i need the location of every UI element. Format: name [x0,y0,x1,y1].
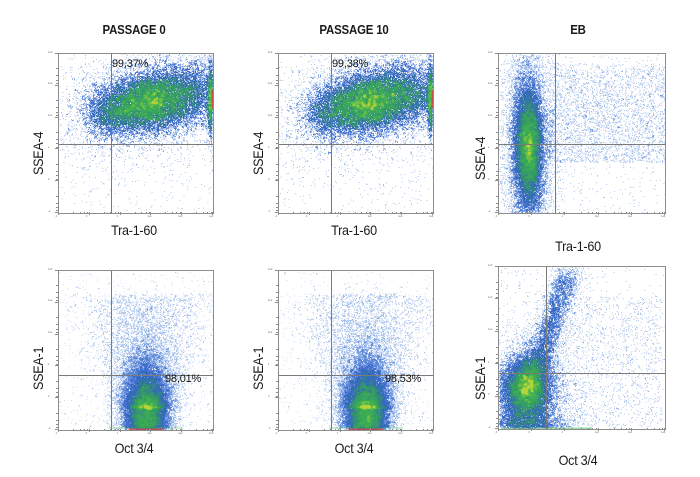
gate-line-vertical-p3[interactable] [555,54,556,213]
gate-percentage-p4: 98,01% [165,373,201,385]
gate-line-vertical-p5[interactable] [331,271,332,430]
y-axis-label-ssea4-p3: SSEA-4 [472,137,488,180]
plot-area-p3[interactable] [498,53,666,214]
x-axis-label-tra160-p2: Tra-1-60 [280,222,428,238]
plot-area-p2[interactable] [278,53,434,214]
gate-percentage-p1: 99,37% [112,58,148,70]
x-axis-label-oct34-p5: Oct 3/4 [280,440,428,456]
gate-percentage-p2: 99,38% [332,58,368,70]
x-axis-label-oct34-p6: Oct 3/4 [499,452,657,468]
gate-percentage-p5: 98,53% [385,373,421,385]
gate-line-horizontal-p2[interactable] [279,144,433,145]
panel-title-eb: EB [501,22,656,37]
x-axis-label-tra160-p1: Tra-1-60 [60,222,208,238]
x-axis-label-tra160-p3: Tra-1-60 [499,238,657,254]
y-axis-label-ssea1-p6: SSEA-1 [472,357,488,400]
flow-cytometry-figure: PASSAGE 0 SSEA-4 Tra-1-60 99,37% -1011e1… [0,0,700,477]
plot-area-p1[interactable] [58,53,214,214]
plot-area-p4[interactable] [58,270,214,431]
y-axis-label-ssea1-p5: SSEA-1 [250,347,266,390]
gate-line-horizontal-p3[interactable] [499,144,665,145]
gate-line-vertical-p1[interactable] [111,54,112,213]
y-axis-label-ssea4-p2: SSEA-4 [250,132,266,175]
plot-area-p5[interactable] [278,270,434,431]
panel-title-passage-0: PASSAGE 0 [62,22,206,37]
gate-line-vertical-p4[interactable] [111,271,112,430]
y-axis-label-ssea4-p1: SSEA-4 [30,132,46,175]
panel-title-passage-10: PASSAGE 10 [282,22,426,37]
gate-line-horizontal-p1[interactable] [59,144,213,145]
gate-line-horizontal-p6[interactable] [499,373,665,374]
gate-line-vertical-p2[interactable] [331,54,332,213]
x-axis-label-oct34-p4: Oct 3/4 [60,440,208,456]
plot-area-p6[interactable] [498,266,666,430]
y-axis-label-ssea1-p4: SSEA-1 [30,347,46,390]
gate-line-vertical-p6[interactable] [546,267,547,429]
